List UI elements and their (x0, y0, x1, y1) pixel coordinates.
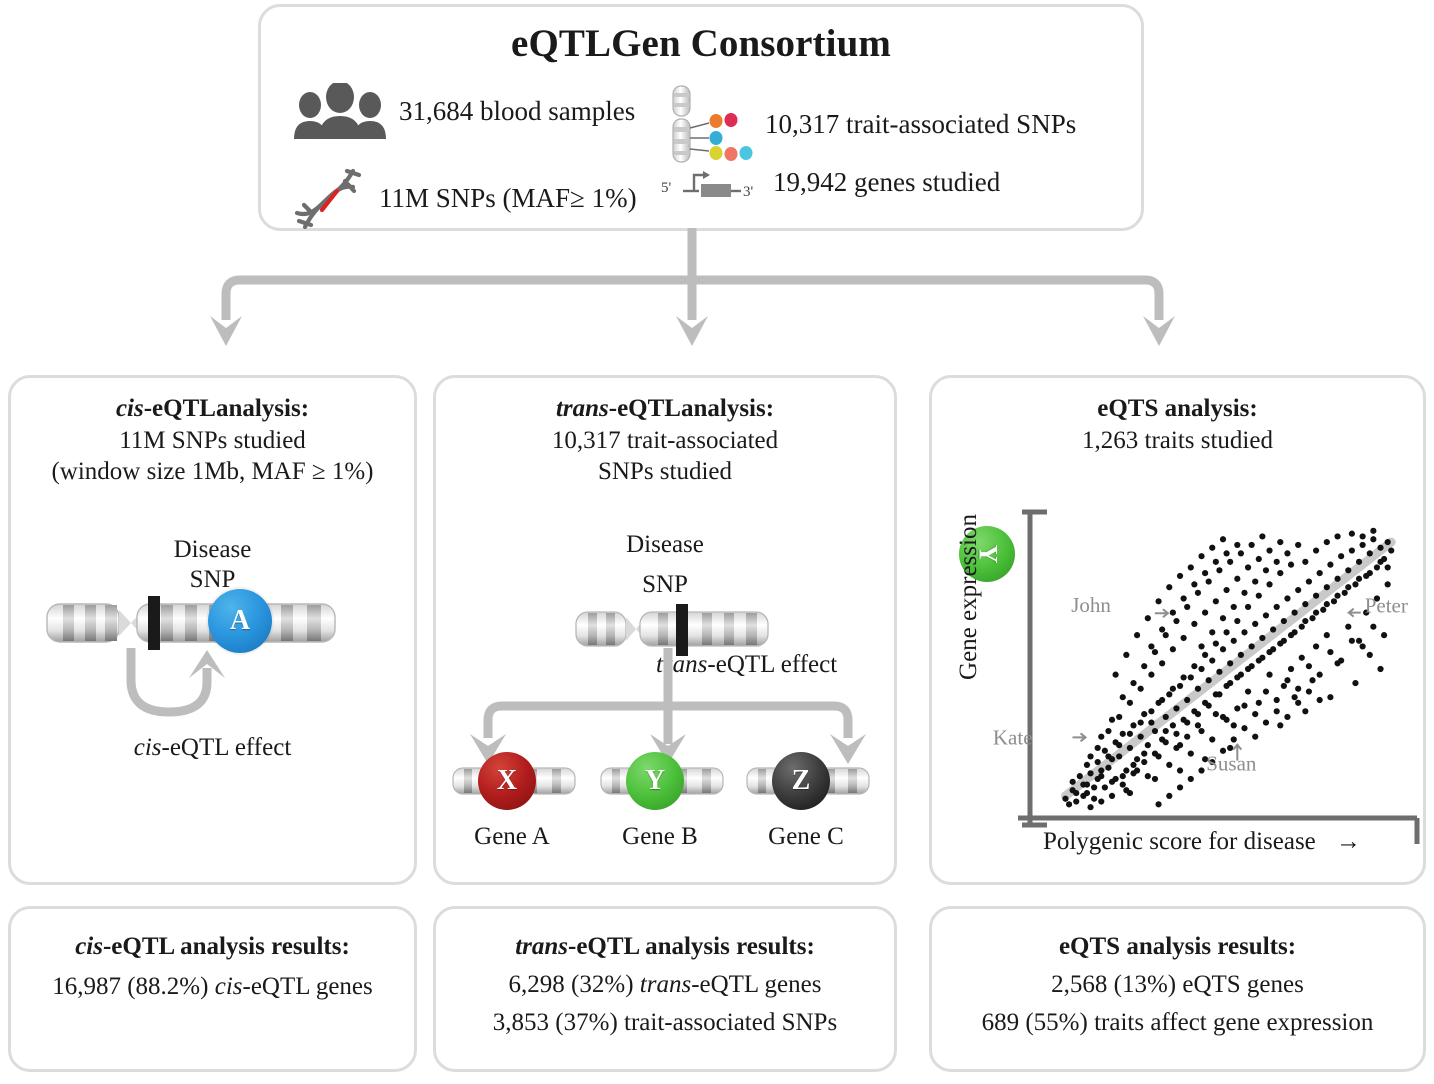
panel-cis-title: cis-eQTLanalysis: (11, 394, 414, 424)
results-cis-title: cis-eQTL analysis results: (11, 933, 414, 961)
trans-gene-label-a: Gene A (442, 822, 582, 851)
cis-effect-label-italic: cis (134, 734, 162, 761)
results-trans-title-italic: trans (515, 933, 568, 960)
panel-trans-title-italic: trans (556, 395, 609, 422)
header-stat-blood-samples: 31,684 blood samples (291, 83, 635, 139)
trans-disease-label: Disease (436, 530, 894, 559)
chromosome-snp-icon (661, 83, 757, 165)
header-stat-label: 10,317 trait-associated SNPs (765, 109, 1076, 140)
cis-effect-label-rest: -eQTL effect (162, 734, 292, 761)
panel-cis-title-italic: cis (116, 395, 144, 422)
header-stat-genes-studied: 5' 3' 19,942 genes studied (661, 165, 1000, 199)
results-trans-line-1: 6,298 (32%) trans-eQTL genes (436, 971, 894, 999)
panel-trans-sub2: SNPs studied (436, 457, 894, 487)
results-trans-line-2-pre: 3,853 (37%) trait-associated SNPs (493, 1009, 837, 1036)
trans-effect-split-arrows (456, 648, 880, 771)
results-trans-line-1-pre: 6,298 (32%) (509, 971, 640, 998)
header-stat-snps-maf: 11M SNPs (MAF≥ 1%) (291, 165, 637, 231)
trans-gene-circle-x-letter: X (497, 765, 517, 797)
trans-gene-label-b: Gene B (590, 822, 730, 851)
dna-helix-icon (291, 165, 371, 231)
eqts-x-axis-label: Polygenic score for disease (1043, 828, 1316, 855)
trans-gene-circle-y: Y (626, 752, 684, 810)
results-eqts-line-1-pre: 2,568 (13%) eQTS genes (1051, 971, 1304, 998)
svg-text:5': 5' (661, 180, 672, 196)
results-trans-box: trans-eQTL analysis results: 6,298 (32%)… (433, 906, 897, 1072)
cis-disease-label: Disease (11, 535, 414, 564)
cis-effect-label: cis-eQTL effect (11, 733, 414, 762)
results-trans-line-1-ital: trans (640, 971, 691, 998)
results-eqts-title: eQTS analysis results: (932, 933, 1423, 961)
eqts-scatter-chart: JohnPeterKateSusan (932, 378, 1423, 882)
header-stat-label: 31,684 blood samples (399, 96, 635, 127)
results-cis-title-rest: -eQTL analysis results: (103, 933, 350, 960)
results-cis-line-1-ital: cis (215, 973, 243, 1000)
trans-gene-circle-y-letter: Y (645, 765, 665, 797)
cis-gene-circle-letter: A (230, 605, 250, 637)
trans-gene-label-c: Gene C (736, 822, 876, 851)
panel-trans-sub1: 10,317 trait-associated (436, 426, 894, 456)
header-stat-label: 19,942 genes studied (773, 167, 1000, 198)
panel-trans-eqtl: trans-eQTLanalysis: 10,317 trait-associa… (433, 375, 897, 885)
eqts-x-axis-arrow-icon: → (1336, 828, 1361, 855)
eqts-x-axis-title: Polygenic score for disease → (992, 828, 1412, 856)
trans-gene-circle-z-letter: Z (792, 765, 811, 797)
header-stat-trait-snps: 10,317 trait-associated SNPs (661, 83, 1076, 165)
svg-text:Peter: Peter (1365, 594, 1408, 618)
panel-cis-sub2: (window size 1Mb, MAF ≥ 1%) (11, 457, 414, 487)
results-eqts-title-rest: eQTS analysis results: (1059, 933, 1296, 960)
svg-text:3': 3' (743, 184, 754, 199)
header-stat-label: 11M SNPs (MAF≥ 1%) (379, 183, 637, 214)
panel-eqts: eQTS analysis: 1,263 traits studied Y Jo… (929, 375, 1426, 885)
svg-text:John: John (1071, 593, 1111, 617)
trans-snp-label: SNP (436, 570, 894, 599)
eqts-y-axis-title: Gene expression (955, 497, 983, 697)
results-trans-line-2: 3,853 (37%) trait-associated SNPs (436, 1009, 894, 1037)
connector-arrows (180, 228, 1260, 368)
panel-cis-eqtl: cis-eQTLanalysis: 11M SNPs studied (wind… (8, 375, 417, 885)
panel-trans-title: trans-eQTLanalysis: (436, 394, 894, 424)
results-eqts-box: eQTS analysis results: 2,568 (13%) eQTS … (929, 906, 1426, 1072)
results-cis-line-1-post: -eQTL genes (243, 973, 373, 1000)
results-trans-title: trans-eQTL analysis results: (436, 933, 894, 961)
page-title: eQTLGen Consortium (261, 21, 1141, 66)
people-icon (291, 83, 389, 139)
header-box: eQTLGen Consortium 31,684 blood samples (258, 4, 1144, 231)
panel-cis-title-rest: -eQTLanalysis: (144, 395, 309, 422)
results-cis-title-italic: cis (75, 933, 103, 960)
panel-cis-sub1: 11M SNPs studied (11, 426, 414, 456)
results-eqts-line-2-pre: 689 (55%) traits affect gene expression (982, 1009, 1374, 1036)
trans-gene-circle-z: Z (772, 752, 830, 810)
eqts-y-axis-label: Gene expression (955, 514, 982, 680)
panel-trans-title-rest: -eQTLanalysis: (609, 395, 774, 422)
cis-eqtl-effect-arrow (121, 646, 271, 743)
results-eqts-line-2: 689 (55%) traits affect gene expression (932, 1009, 1423, 1037)
results-trans-title-rest: -eQTL analysis results: (568, 933, 815, 960)
svg-text:Kate: Kate (993, 725, 1033, 749)
results-cis-line-1-pre: 16,987 (88.2%) (52, 973, 214, 1000)
gene-model-icon: 5' 3' (661, 165, 765, 199)
results-eqts-line-1: 2,568 (13%) eQTS genes (932, 971, 1423, 999)
trans-gene-circle-x: X (478, 752, 536, 810)
svg-text:Susan: Susan (1206, 752, 1257, 776)
results-trans-line-1-post: -eQTL genes (691, 971, 821, 998)
results-cis-line-1: 16,987 (88.2%) cis-eQTL genes (11, 973, 414, 1001)
cis-gene-circle-a: A (208, 589, 272, 653)
results-cis-box: cis-eQTL analysis results: 16,987 (88.2%… (8, 906, 417, 1072)
